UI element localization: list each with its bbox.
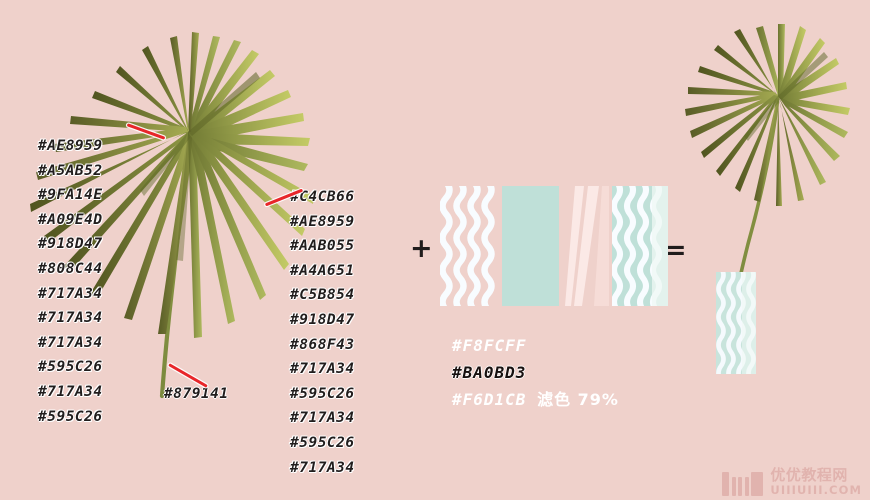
color-code: #A4A651 bbox=[290, 259, 355, 284]
watermark: 优优教程网 UIIIUIII.COM bbox=[722, 468, 862, 497]
fan-palm-in-vase-right bbox=[682, 24, 870, 424]
color-code: #AE8959 bbox=[290, 210, 355, 235]
result-color-codes: #F8FCFF #BA0BD3 #F6D1CB 滤色 79% bbox=[452, 332, 619, 413]
palette-column-2: #C4CB66 #AE8959 #AAB055 #A4A651 #C5B854 … bbox=[290, 185, 355, 480]
color-code: #918D47 bbox=[38, 232, 103, 257]
color-code: #717A34 bbox=[290, 357, 355, 382]
color-code: #595C26 bbox=[38, 355, 103, 380]
color-code: #717A34 bbox=[38, 306, 103, 331]
color-code: #595C26 bbox=[38, 405, 103, 430]
result-code: #BA0BD3 bbox=[452, 363, 526, 382]
color-code: #A5AB52 bbox=[38, 159, 103, 184]
color-code: #868F43 bbox=[290, 333, 355, 358]
watermark-chinese: 优优教程网 bbox=[770, 468, 862, 483]
result-code-line: #BA0BD3 bbox=[452, 359, 619, 386]
color-code: #AAB055 bbox=[290, 234, 355, 259]
result-code-line: #F6D1CB 滤色 79% bbox=[452, 386, 619, 413]
watermark-logo-icon bbox=[722, 472, 763, 496]
palette-column-1: #AE8959 #A5AB52 #9FA14E #A09E4D #918D47 … bbox=[38, 134, 103, 429]
swatch-solid-mint bbox=[502, 186, 559, 306]
swatch-mint-wavy-white bbox=[612, 186, 668, 306]
color-code: #C5B854 bbox=[290, 283, 355, 308]
color-code: #595C26 bbox=[290, 431, 355, 456]
result-code: #F8FCFF bbox=[452, 336, 526, 355]
color-code: #AE8959 bbox=[38, 134, 103, 159]
color-code: #717A34 bbox=[38, 282, 103, 307]
result-code: #F6D1CB bbox=[452, 390, 526, 409]
plus-operator: + bbox=[410, 235, 433, 262]
watermark-url: UIIIUIII.COM bbox=[770, 485, 862, 497]
color-code: #595C26 bbox=[290, 382, 355, 407]
color-code: #717A34 bbox=[290, 406, 355, 431]
color-code: #9FA14E bbox=[38, 183, 103, 208]
watermark-text: 优优教程网 UIIIUIII.COM bbox=[770, 468, 862, 497]
blend-mode-note: 滤色 79% bbox=[537, 390, 619, 409]
color-code: #717A34 bbox=[38, 331, 103, 356]
color-code: #808C44 bbox=[38, 257, 103, 282]
swatch-wavy-white-stripes bbox=[440, 186, 497, 306]
swatch-diagonal-pale-stripes bbox=[565, 186, 609, 306]
design-canvas: #AE8959 #A5AB52 #9FA14E #A09E4D #918D47 … bbox=[0, 0, 870, 500]
stem-color-code: #879141 bbox=[164, 386, 229, 402]
color-code: #918D47 bbox=[290, 308, 355, 333]
color-code: #717A34 bbox=[290, 456, 355, 481]
color-code: #A09E4D bbox=[38, 208, 103, 233]
texture-swatch-group bbox=[440, 186, 645, 306]
color-code: #717A34 bbox=[38, 380, 103, 405]
result-code-line: #F8FCFF bbox=[452, 332, 619, 359]
